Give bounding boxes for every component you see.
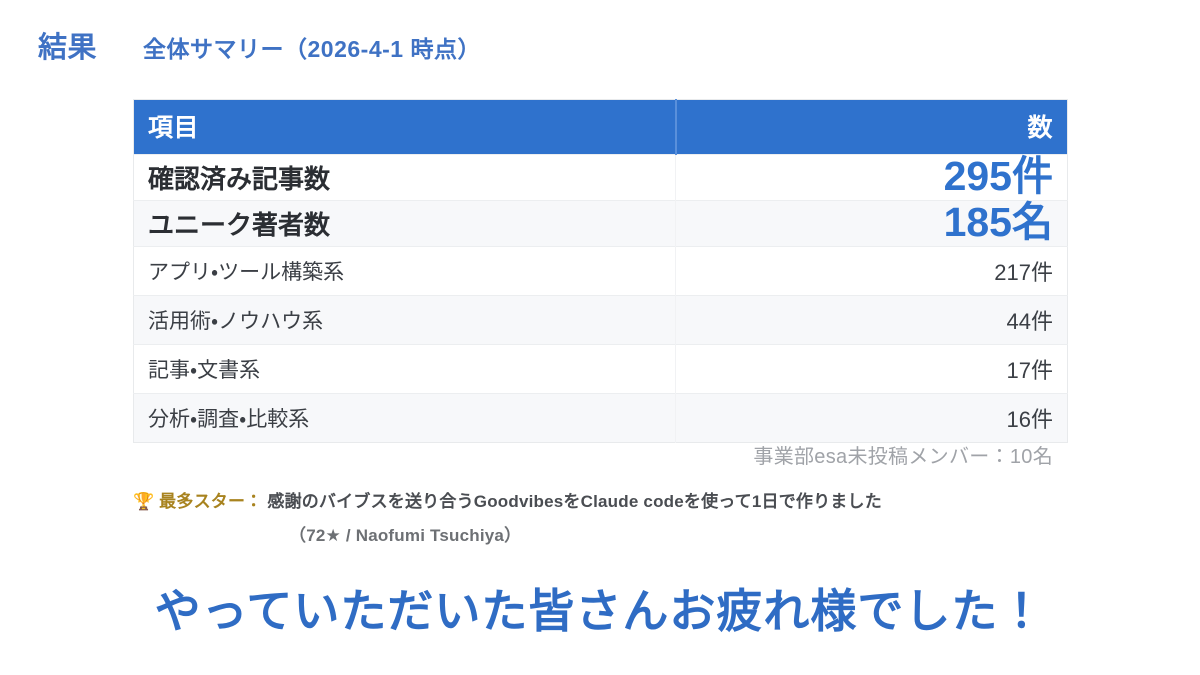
closing-message: やっていただいた皆さんお疲れ様でした！ [0, 575, 1200, 641]
cell-count: 17件 [676, 345, 1068, 394]
slide-header: 結果 全体サマリー（2026-4-1 時点） [38, 24, 481, 66]
cell-item: 分析・調査・比較系 [134, 394, 676, 443]
table-row: アプリ・ツール構築系217件 [134, 247, 1068, 296]
cell-item: ユニーク著者数 [134, 201, 676, 247]
table-row: 活用術・ノウハウ系44件 [134, 296, 1068, 345]
cell-count: 217件 [676, 247, 1068, 296]
table-row: 確認済み記事数295件 [134, 155, 1068, 201]
award-label: 最多スター： [159, 487, 262, 512]
summary-table: 項目 数 確認済み記事数295件ユニーク著者数185名アプリ・ツール構築系217… [133, 99, 1068, 443]
cell-item: アプリ・ツール構築系 [134, 247, 676, 296]
table-row: ユニーク著者数185名 [134, 201, 1068, 247]
cell-count: 44件 [676, 296, 1068, 345]
table-body: 確認済み記事数295件ユニーク著者数185名アプリ・ツール構築系217件活用術・… [134, 155, 1068, 443]
page-subtitle: 全体サマリー（2026-4-1 時点） [143, 30, 481, 64]
award-title: 感謝のバイブスを送り合うGoodvibesをClaude codeを使って1日で… [267, 487, 882, 512]
trophy-icon: 🏆 [133, 493, 154, 510]
cell-item: 記事・文書系 [134, 345, 676, 394]
table-header: 項目 数 [134, 100, 1068, 155]
cell-item: 活用術・ノウハウ系 [134, 296, 676, 345]
award-block: 🏆 最多スター： 感謝のバイブスを送り合うGoodvibesをClaude co… [133, 487, 1067, 546]
table-row: 記事・文書系17件 [134, 345, 1068, 394]
award-headline: 🏆 最多スター： 感謝のバイブスを送り合うGoodvibesをClaude co… [133, 487, 1067, 512]
table-row: 分析・調査・比較系16件 [134, 394, 1068, 443]
cell-count: 185名 [676, 201, 1068, 247]
page-title: 結果 [38, 24, 97, 66]
column-header-count: 数 [676, 100, 1068, 155]
cell-count: 16件 [676, 394, 1068, 443]
slide-root: { "header": { "title": "結果", "subtitle":… [0, 0, 1200, 675]
cell-count: 295件 [676, 155, 1068, 201]
table-footnote: 事業部esa未投稿メンバー：10名 [133, 440, 1067, 469]
column-header-item: 項目 [134, 100, 676, 155]
cell-item: 確認済み記事数 [134, 155, 676, 201]
table-header-row: 項目 数 [134, 100, 1068, 155]
award-meta: （72★ / Naofumi Tsuchiya） [133, 521, 1067, 546]
